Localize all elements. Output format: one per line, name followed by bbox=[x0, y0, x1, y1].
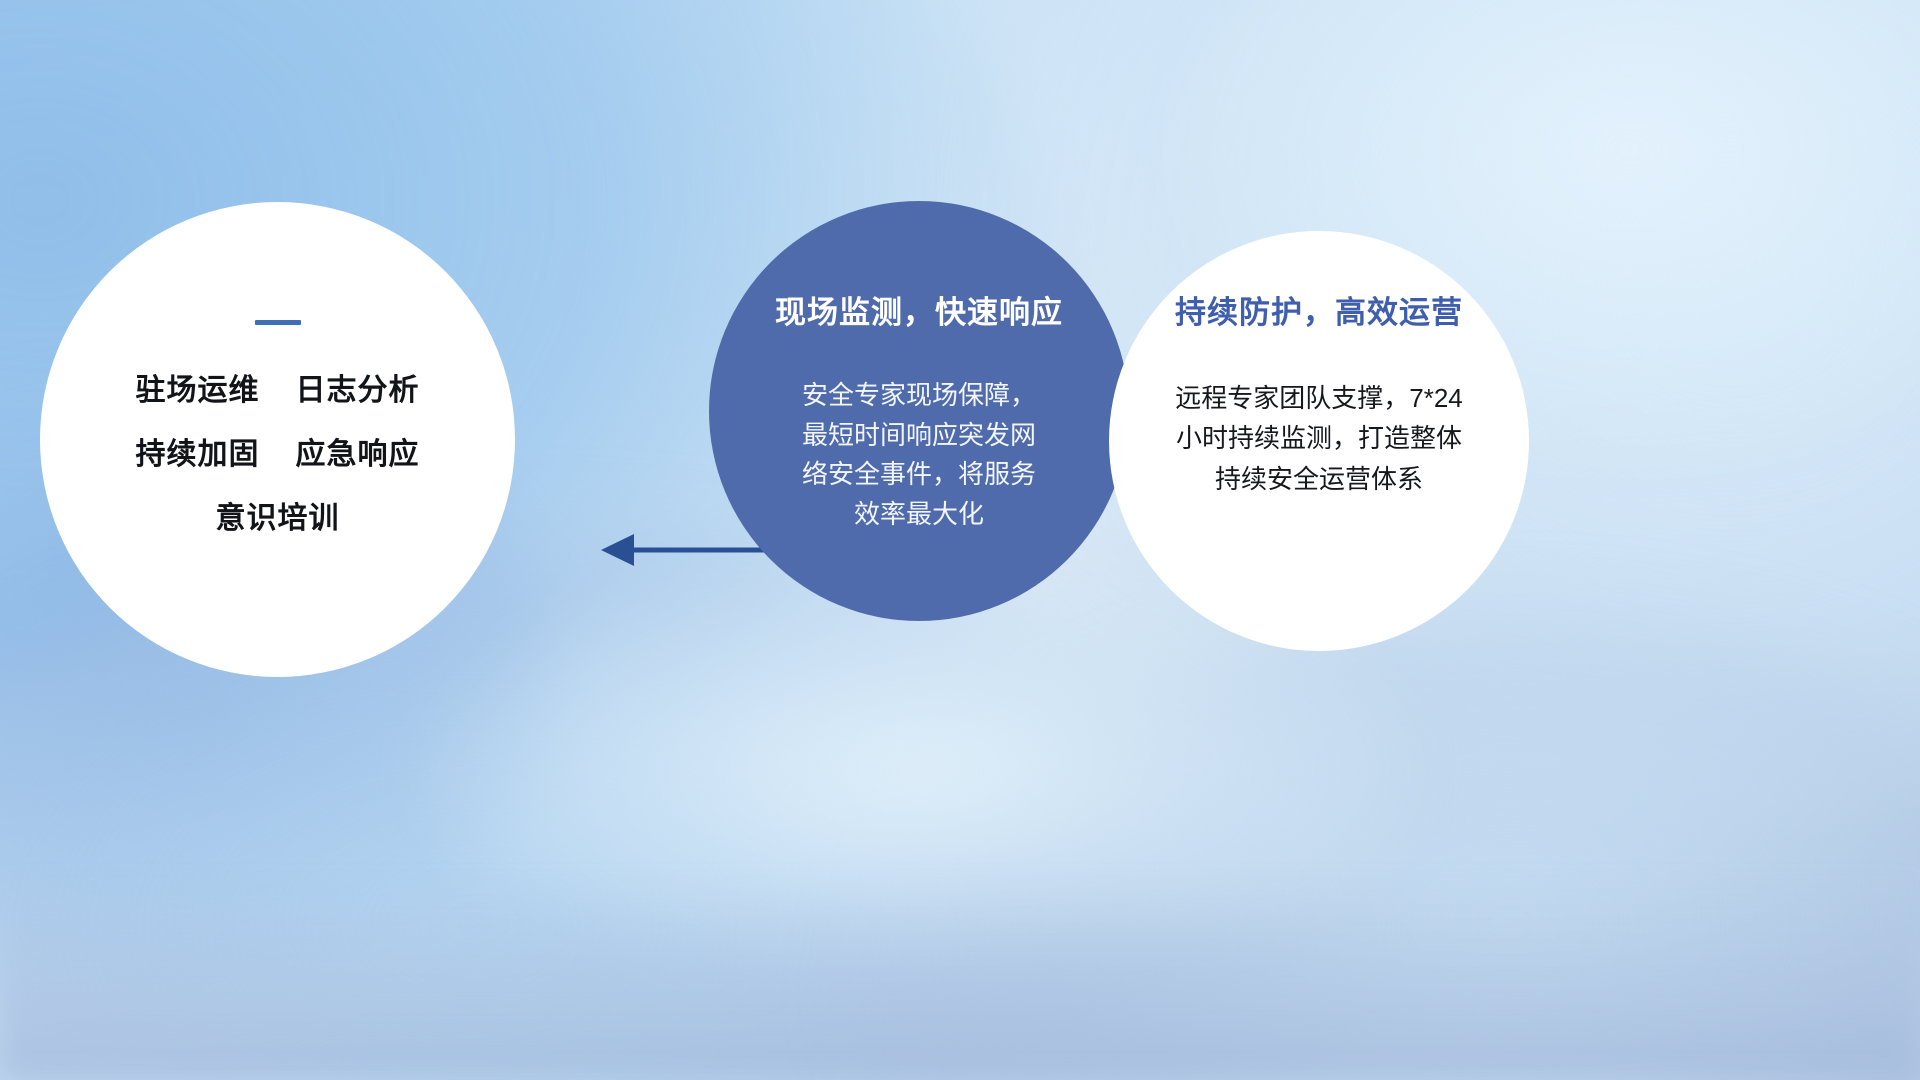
keyword-list: 驻场运维 日志分析 持续加固 应急响应 意识培训 bbox=[136, 365, 420, 537]
keyword-item: 意识培训 bbox=[216, 493, 340, 537]
node-onsite-monitoring[interactable]: 现场监测，快速响应 安全专家现场保障， 最短时间响应突发网 络安全事件，将服务 … bbox=[709, 201, 1129, 621]
node-title: 现场监测，快速响应 bbox=[775, 287, 1063, 332]
body-line: 小时持续监测，打造整体 bbox=[1145, 418, 1493, 458]
node-capabilities[interactable]: 驻场运维 日志分析 持续加固 应急响应 意识培训 bbox=[40, 202, 515, 677]
body-line: 效率最大化 bbox=[769, 495, 1069, 535]
node-body: 远程专家团队支撑，7*24 小时持续监测，打造整体 持续安全运营体系 bbox=[1145, 378, 1493, 499]
node-title: 持续防护，高效运营 bbox=[1175, 287, 1463, 332]
node-continuous-protection[interactable]: 持续防护，高效运营 远程专家团队支撑，7*24 小时持续监测，打造整体 持续安全… bbox=[1109, 231, 1529, 651]
keyword-item: 持续加固 bbox=[136, 429, 260, 473]
keyword-item: 驻场运维 bbox=[136, 365, 260, 409]
keyword-row: 驻场运维 日志分析 bbox=[136, 365, 420, 409]
body-line: 安全专家现场保障， bbox=[769, 376, 1069, 416]
node-body: 安全专家现场保障， 最短时间响应突发网 络安全事件，将服务 效率最大化 bbox=[769, 376, 1069, 534]
keyword-row: 持续加固 应急响应 bbox=[136, 429, 420, 473]
slide-canvas: 驻场运维 日志分析 持续加固 应急响应 意识培训 现场监测，快速响应 安全专家现… bbox=[0, 0, 1920, 1080]
body-line: 远程专家团队支撑，7*24 bbox=[1145, 378, 1493, 418]
body-line: 络安全事件，将服务 bbox=[769, 455, 1069, 495]
keyword-row: 意识培训 bbox=[216, 493, 340, 537]
title-divider bbox=[255, 320, 301, 325]
body-line: 持续安全运营体系 bbox=[1145, 459, 1493, 499]
body-line: 最短时间响应突发网 bbox=[769, 416, 1069, 456]
keyword-item: 应急响应 bbox=[296, 429, 420, 473]
keyword-item: 日志分析 bbox=[296, 365, 420, 409]
